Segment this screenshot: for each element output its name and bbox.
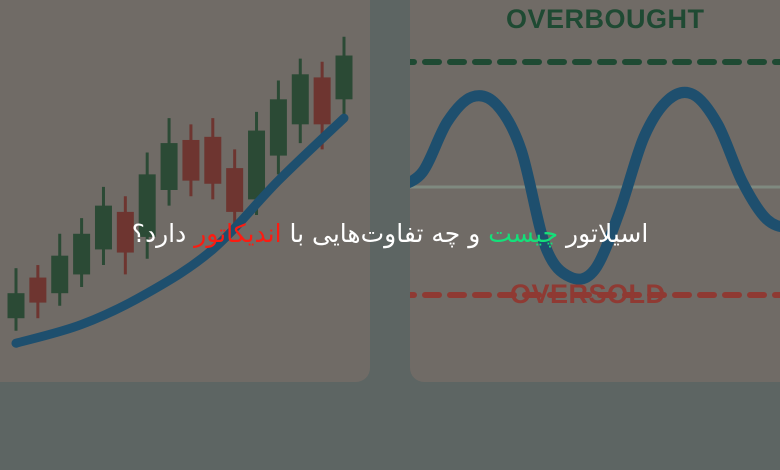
candle-body — [292, 74, 309, 124]
candle-body — [248, 131, 265, 200]
candle-body — [204, 137, 221, 184]
candlestick-series — [8, 37, 353, 331]
headline-part-3: و چه تفاوت‌هایی با — [282, 219, 489, 248]
oversold-label: OVERSOLD — [510, 279, 666, 310]
overbought-label: OVERBOUGHT — [506, 4, 705, 35]
headline-part-5: دارد؟ — [132, 219, 195, 248]
candle-body — [270, 99, 287, 155]
candlestick-svg — [0, 0, 370, 382]
candle-body — [161, 143, 178, 190]
candlestick-panel — [0, 0, 370, 382]
candle-body — [314, 77, 331, 124]
candle-body — [336, 56, 353, 100]
headline-text: اسیلاتور چیست و چه تفاوت‌هایی با اندیکات… — [0, 218, 780, 251]
candle-body — [51, 256, 68, 294]
headline-part-red: اندیکاتور — [194, 219, 281, 248]
candle-body — [226, 168, 243, 212]
oscillator-svg — [410, 0, 780, 382]
candle-body — [8, 293, 25, 318]
headline-part-green: چیست — [488, 219, 558, 248]
candle-body — [29, 278, 46, 303]
candle-body — [182, 140, 199, 181]
headline-part-1: اسیلاتور — [558, 219, 648, 248]
oscillator-panel: OVERBOUGHT OVERSOLD — [410, 0, 780, 382]
screenshot-stage: OVERBOUGHT OVERSOLD اسیلاتور چیست و چه ت… — [0, 0, 780, 470]
